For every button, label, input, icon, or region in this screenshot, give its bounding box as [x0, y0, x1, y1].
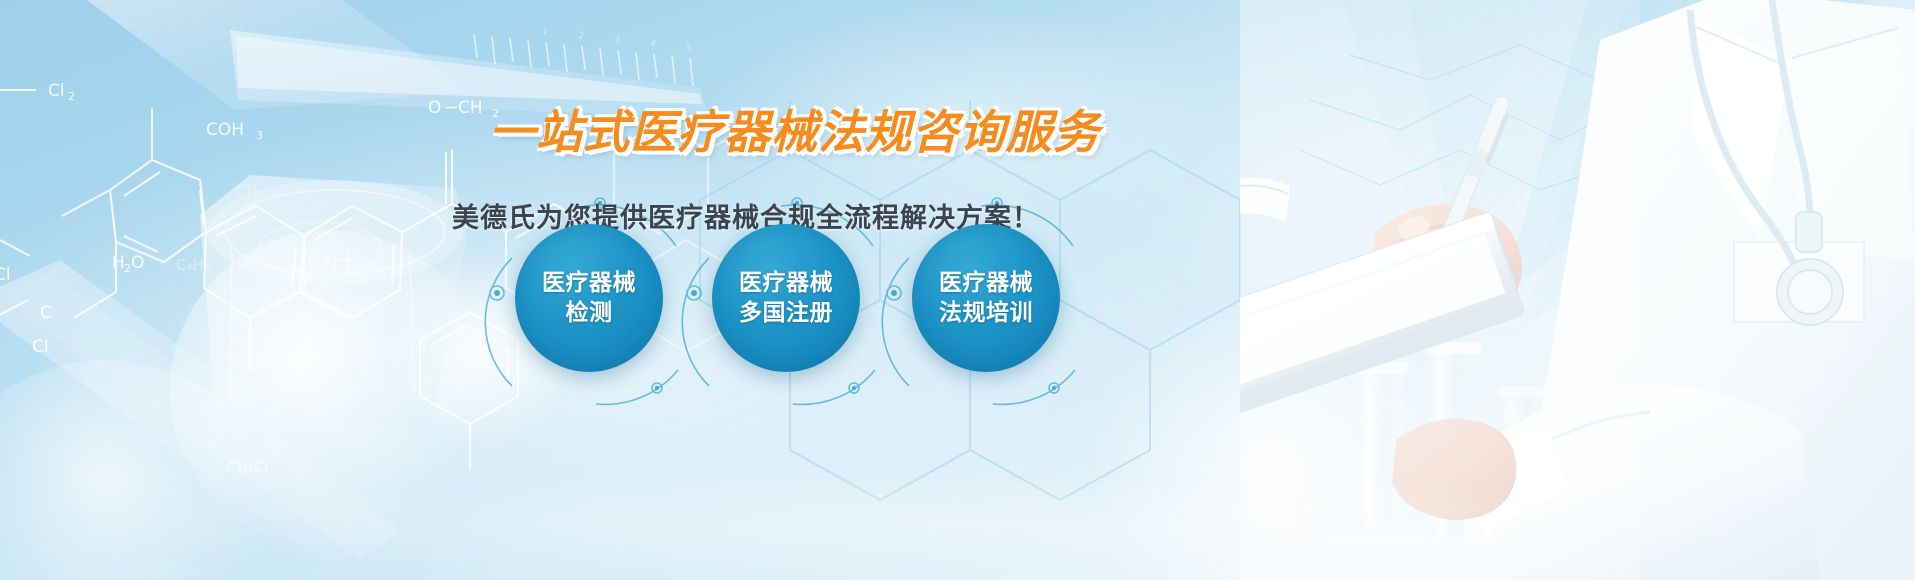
service-badge-circle[interactable]: 医疗器械 检测 — [515, 224, 663, 372]
svg-text:H: H — [112, 253, 125, 273]
service-badge-training[interactable]: 医疗器械 法规培训 — [912, 224, 1060, 372]
svg-text:2: 2 — [578, 31, 585, 42]
service-badge-circle[interactable]: 医疗器械 法规培训 — [912, 224, 1060, 372]
svg-text:3: 3 — [614, 35, 621, 46]
svg-text:Cl: Cl — [0, 265, 11, 285]
svg-text:5: 5 — [686, 43, 693, 54]
svg-text:4: 4 — [650, 39, 657, 50]
svg-text:1: 1 — [542, 27, 549, 38]
svg-text:C₄H₅: C₄H₅ — [176, 256, 210, 274]
service-badge-testing[interactable]: 医疗器械 检测 — [515, 224, 663, 372]
svg-text:C: C — [40, 303, 52, 323]
svg-text:2: 2 — [124, 262, 131, 275]
service-badge-circle[interactable]: 医疗器械 多国注册 — [712, 224, 860, 372]
service-badge-registration[interactable]: 医疗器械 多国注册 — [712, 224, 860, 372]
service-badge-line2: 检测 — [566, 298, 613, 328]
service-badge-line1: 医疗器械 — [542, 268, 636, 298]
svg-text:O: O — [131, 253, 144, 273]
service-badge-line1: 医疗器械 — [939, 268, 1033, 298]
service-badge-line2: 法规培训 — [939, 298, 1033, 328]
svg-text:Cl: Cl — [32, 337, 49, 357]
service-badge-line1: 医疗器械 — [739, 268, 833, 298]
hero-banner: 5 4 3 2 1 — [0, 0, 1915, 580]
page-title: 一站式医疗器械法规咨询服务 — [0, 96, 1100, 162]
service-badge-line2: 多国注册 — [739, 298, 833, 328]
